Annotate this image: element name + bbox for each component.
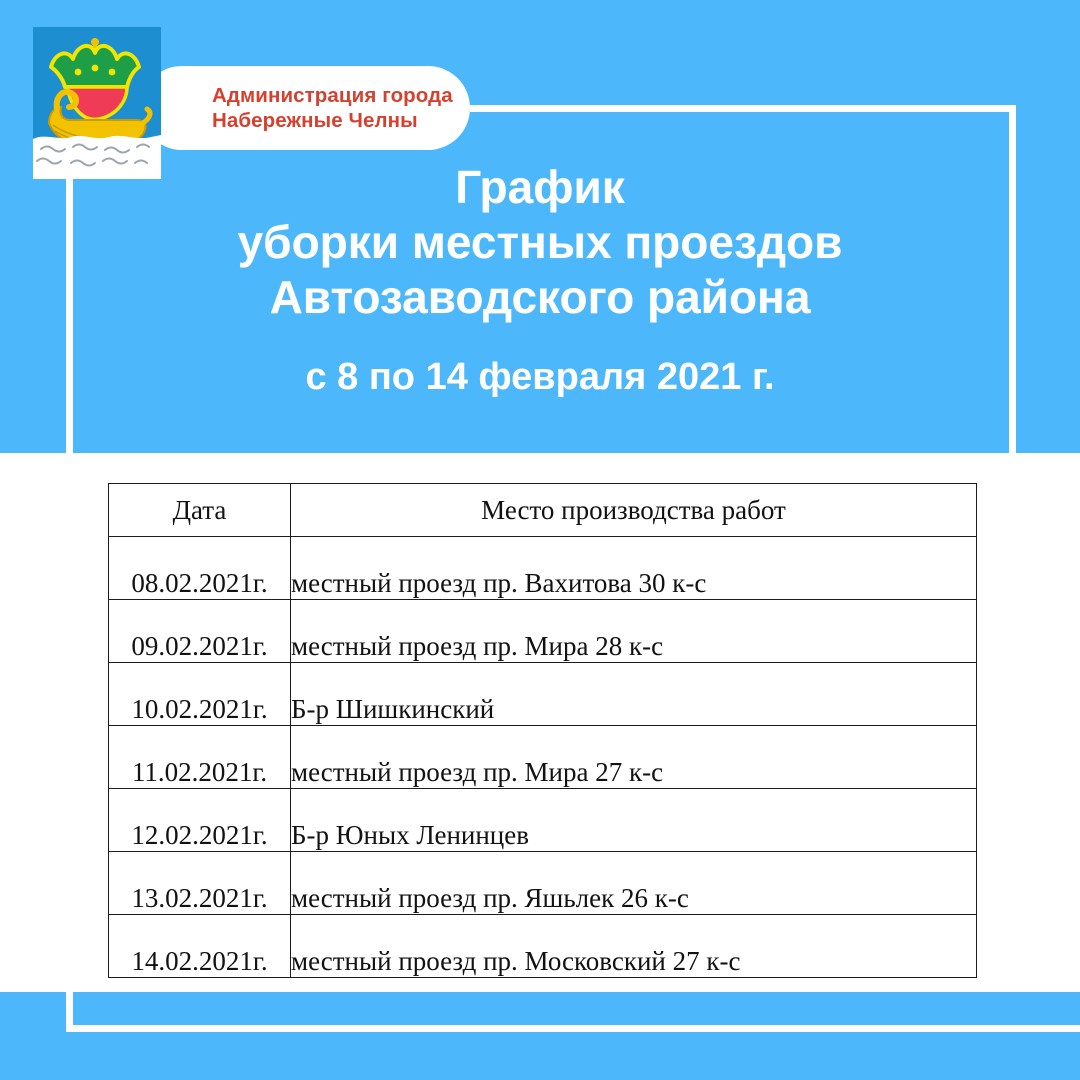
table-row: 10.02.2021г. Б-р Шишкинский — [109, 663, 977, 726]
cell-place: местный проезд пр. Яшьлек 26 к-с — [291, 852, 977, 915]
title-block: График уборки местных проездов Автозавод… — [90, 160, 990, 399]
schedule-table-wrapper: Дата Место производства работ 08.02.2021… — [108, 483, 976, 978]
cell-place: местный проезд пр. Вахитова 30 к-с — [291, 537, 977, 600]
cell-date: 12.02.2021г. — [109, 789, 291, 852]
table-row: 14.02.2021г. местный проезд пр. Московск… — [109, 915, 977, 978]
cell-date: 11.02.2021г. — [109, 726, 291, 789]
frame-line-top — [470, 105, 1016, 112]
cell-date: 08.02.2021г. — [109, 537, 291, 600]
table-row: 11.02.2021г. местный проезд пр. Мира 27 … — [109, 726, 977, 789]
coat-of-arms-icon — [33, 27, 161, 179]
page-subtitle-period: с 8 по 14 февраля 2021 г. — [90, 355, 990, 399]
frame-line-right — [1009, 105, 1016, 453]
cell-date: 13.02.2021г. — [109, 852, 291, 915]
organization-badge: Администрация города Набережные Челны — [140, 66, 470, 150]
cell-date: 10.02.2021г. — [109, 663, 291, 726]
cell-date: 14.02.2021г. — [109, 915, 291, 978]
table-header-row: Дата Место производства работ — [109, 484, 977, 537]
table-row: 12.02.2021г. Б-р Юных Ленинцев — [109, 789, 977, 852]
table-row: 13.02.2021г. местный проезд пр. Яшьлек 2… — [109, 852, 977, 915]
page-title: График уборки местных проездов Автозавод… — [90, 160, 990, 325]
cell-date: 09.02.2021г. — [109, 600, 291, 663]
footer-banner — [0, 992, 1080, 1080]
table-row: 09.02.2021г. местный проезд пр. Мира 28 … — [109, 600, 977, 663]
table-row: 08.02.2021г. местный проезд пр. Вахитова… — [109, 537, 977, 600]
schedule-table: Дата Место производства работ 08.02.2021… — [108, 483, 977, 978]
cell-place: Б-р Шишкинский — [291, 663, 977, 726]
cell-place: местный проезд пр. Мира 27 к-с — [291, 726, 977, 789]
table-body: 08.02.2021г. местный проезд пр. Вахитова… — [109, 537, 977, 978]
frame-line-left — [66, 170, 73, 453]
organization-name: Администрация города Набережные Челны — [212, 83, 453, 133]
table-head: Дата Место производства работ — [109, 484, 977, 537]
cell-place: местный проезд пр. Московский 27 к-с — [291, 915, 977, 978]
poster-canvas: Администрация города Набережные Челны Гр… — [0, 0, 1080, 1080]
column-header-place: Место производства работ — [291, 484, 977, 537]
cell-place: местный проезд пр. Мира 28 к-с — [291, 600, 977, 663]
column-header-date: Дата — [109, 484, 291, 537]
cell-place: Б-р Юных Ленинцев — [291, 789, 977, 852]
footer-frame-line-bottom — [66, 1025, 1080, 1032]
